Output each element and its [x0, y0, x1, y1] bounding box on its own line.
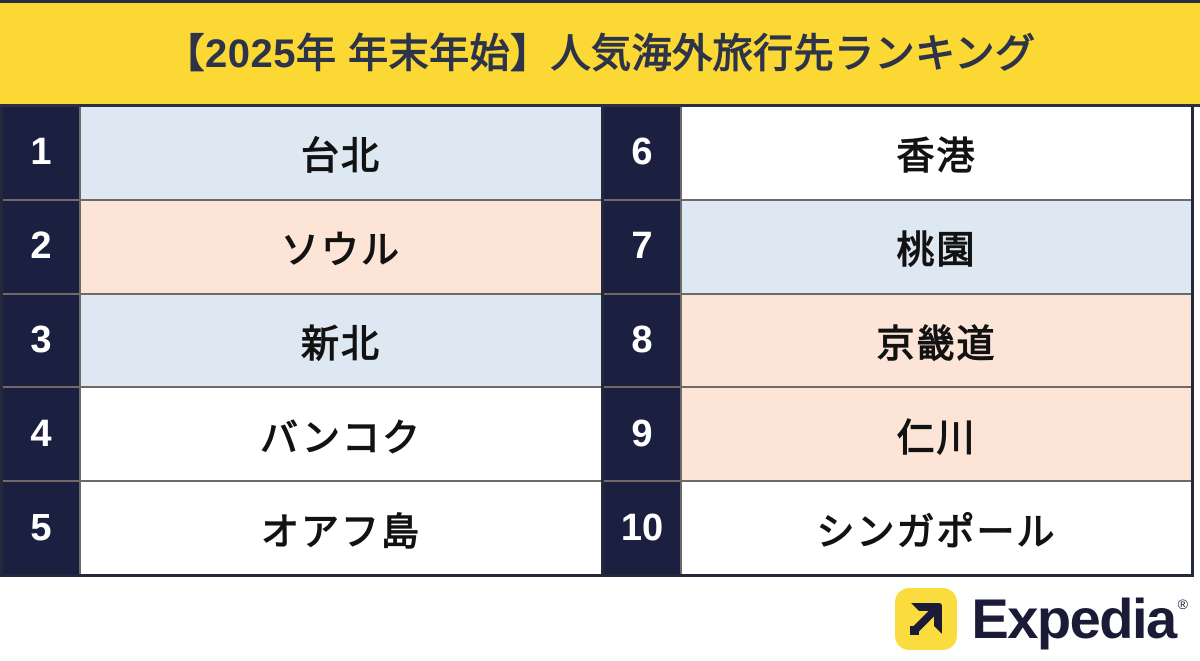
rank-destination: 桃園 — [680, 201, 1191, 293]
registered-trademark-symbol: ® — [1178, 597, 1188, 611]
expedia-arrow-icon — [895, 588, 957, 650]
rank-number: 1 — [3, 107, 79, 199]
rank-number: 10 — [604, 482, 680, 574]
rank-destination: 台北 — [79, 107, 601, 199]
table-row: 9 仁川 — [604, 388, 1191, 482]
rank-destination: バンコク — [79, 388, 601, 480]
ranking-table: 1 台北 2 ソウル 3 新北 4 バンコク 5 オアフ島 — [0, 107, 1194, 577]
page-title: 【2025年 年末年始】人気海外旅行先ランキング — [165, 34, 1036, 74]
table-row: 7 桃園 — [604, 201, 1191, 295]
table-row: 3 新北 — [3, 295, 601, 389]
table-row: 8 京畿道 — [604, 295, 1191, 389]
rank-destination: ソウル — [79, 201, 601, 293]
footer: Expedia ® — [0, 577, 1200, 661]
rank-destination: 仁川 — [680, 388, 1191, 480]
rank-number: 9 — [604, 388, 680, 480]
rank-number: 5 — [3, 482, 79, 574]
table-row: 5 オアフ島 — [3, 482, 601, 574]
rank-number: 6 — [604, 107, 680, 199]
table-row: 2 ソウル — [3, 201, 601, 295]
rank-destination: 香港 — [680, 107, 1191, 199]
rank-number: 4 — [3, 388, 79, 480]
rank-destination: オアフ島 — [79, 482, 601, 574]
table-row: 4 バンコク — [3, 388, 601, 482]
rank-number: 7 — [604, 201, 680, 293]
expedia-logo: Expedia ® — [895, 588, 1188, 650]
rank-destination: シンガポール — [680, 482, 1191, 574]
rank-number: 8 — [604, 295, 680, 387]
ranking-infographic: 【2025年 年末年始】人気海外旅行先ランキング 1 台北 2 ソウル 3 新北… — [0, 0, 1200, 661]
table-row: 1 台北 — [3, 107, 601, 201]
expedia-wordmark-text: Expedia — [971, 591, 1175, 647]
rank-destination: 新北 — [79, 295, 601, 387]
rank-number: 2 — [3, 201, 79, 293]
rank-destination: 京畿道 — [680, 295, 1191, 387]
table-row: 10 シンガポール — [604, 482, 1191, 574]
ranking-column-left: 1 台北 2 ソウル 3 新北 4 バンコク 5 オアフ島 — [3, 107, 601, 574]
rank-number: 3 — [3, 295, 79, 387]
title-banner: 【2025年 年末年始】人気海外旅行先ランキング — [0, 0, 1200, 107]
ranking-column-right: 6 香港 7 桃園 8 京畿道 9 仁川 10 シンガポール — [601, 107, 1191, 574]
expedia-wordmark: Expedia ® — [971, 591, 1188, 647]
table-row: 6 香港 — [604, 107, 1191, 201]
